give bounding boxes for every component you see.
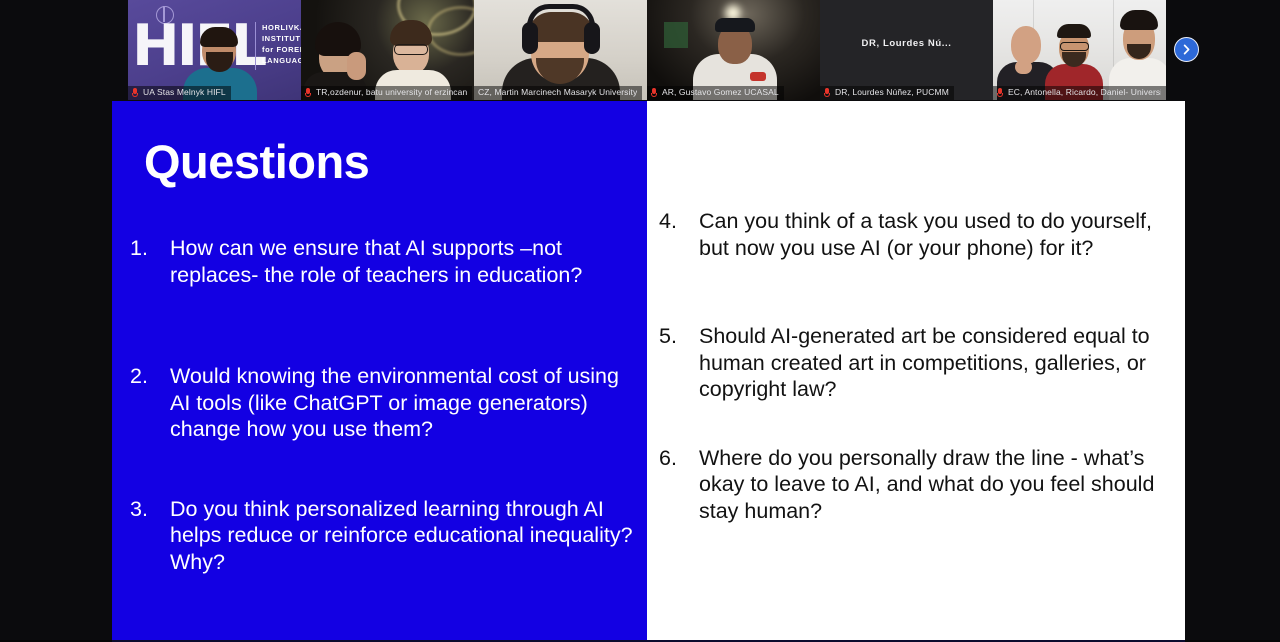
video-conference-screen: HIFL HORLIVKAINSTITUTEfor FOREIGNLANGUAG…	[0, 0, 1280, 642]
wall-poster	[664, 22, 688, 48]
video-tile-3-media	[474, 0, 647, 100]
video-tile-6-name-bar: EC, Antonella, Ricardo, Daniel- Universi…	[993, 86, 1166, 100]
video-tile-5-name-bar: DR, Lourdes Núñez, PUCMM	[820, 86, 954, 100]
participant-6b-glasses	[1060, 42, 1089, 51]
shared-screen-slide[interactable]: Questions 1. How can we ensure that AI s…	[112, 101, 1185, 640]
question-3-number: 3.	[130, 496, 170, 523]
mic-muted-icon	[997, 88, 1004, 98]
question-1-number: 1.	[130, 235, 170, 262]
video-tile-5-name: DR, Lourdes Núñez, PUCMM	[835, 87, 949, 98]
participant-1-hair	[200, 27, 238, 47]
video-tile-5[interactable]: DR, Lourdes Nú... DR, Lourdes Núñez, PUC…	[820, 0, 993, 100]
participant-3-headset-right	[584, 22, 600, 54]
question-6-number: 6.	[659, 445, 699, 472]
question-item-6: 6. Where do you personally draw the line…	[659, 445, 1169, 525]
participant-6a-hand	[1015, 60, 1032, 74]
question-item-4: 4. Can you think of a task you used to d…	[659, 208, 1169, 261]
video-tile-1-media: HIFL HORLIVKAINSTITUTEfor FOREIGNLANGUAG…	[128, 0, 301, 100]
participant-4-logo	[750, 72, 766, 81]
video-tile-5-media: DR, Lourdes Nú...	[820, 0, 993, 100]
question-2-number: 2.	[130, 363, 170, 390]
hifl-wordmark: HORLIVKAINSTITUTEfor FOREIGNLANGUAGES	[262, 22, 301, 66]
slide-title: Questions	[144, 134, 369, 189]
video-tile-1-name: UA Stas Melnyk HIFL	[143, 87, 226, 98]
participant-3-headset-band	[527, 4, 595, 26]
video-tile-2[interactable]: TR,ozdenur, batu university of erzincan	[301, 0, 474, 100]
video-tile-1[interactable]: HIFL HORLIVKAINSTITUTEfor FOREIGNLANGUAG…	[128, 0, 301, 100]
mic-muted-icon	[305, 88, 312, 98]
questions-list-left: 1. How can we ensure that AI supports –n…	[130, 235, 639, 575]
participant-2b-glasses	[394, 44, 428, 55]
participant-6b-hair	[1057, 24, 1091, 38]
participant-4-cap	[715, 18, 755, 32]
question-item-3: 3. Do you think personalized learning th…	[130, 496, 639, 576]
question-6-text: Where do you personally draw the line - …	[699, 445, 1169, 525]
hifl-logo: HIFL	[132, 18, 264, 75]
question-2-text: Would knowing the environmental cost of …	[170, 363, 639, 443]
slide-left-column: Questions 1. How can we ensure that AI s…	[112, 101, 647, 640]
question-item-2: 2. Would knowing the environmental cost …	[130, 363, 639, 443]
participant-6c-hair	[1120, 10, 1158, 30]
participant-filmstrip: HIFL HORLIVKAINSTITUTEfor FOREIGNLANGUAG…	[0, 0, 1280, 100]
video-tile-3[interactable]: CZ, Martin Marcinech Masaryk University	[474, 0, 647, 100]
question-5-number: 5.	[659, 323, 699, 350]
video-tile-4[interactable]: AR, Gustavo Gomez UCASAL	[647, 0, 820, 100]
question-item-1: 1. How can we ensure that AI supports –n…	[130, 235, 639, 288]
video-tile-4-name-bar: AR, Gustavo Gomez UCASAL	[647, 86, 784, 100]
participant-3-headset-left	[522, 22, 538, 54]
question-3-text: Do you think personalized learning throu…	[170, 496, 639, 576]
camera-off-background	[820, 0, 993, 100]
slide-right-column: 4. Can you think of a task you used to d…	[647, 101, 1185, 640]
mic-muted-icon	[651, 88, 658, 98]
video-tile-6-media	[993, 0, 1166, 100]
camera-off-display-name: DR, Lourdes Nú...	[820, 38, 993, 49]
next-page-arrow-button[interactable]	[1174, 37, 1199, 62]
video-tile-1-name-bar: UA Stas Melnyk HIFL	[128, 86, 231, 100]
question-4-text: Can you think of a task you used to do y…	[699, 208, 1169, 261]
video-tile-6[interactable]: EC, Antonella, Ricardo, Daniel- Universi…	[993, 0, 1166, 100]
video-tile-2-name-bar: TR,ozdenur, batu university of erzincan	[301, 86, 472, 100]
mic-muted-icon	[824, 88, 831, 98]
question-item-5: 5. Should AI-generated art be considered…	[659, 323, 1169, 403]
mic-muted-icon	[132, 88, 139, 98]
chevron-right-icon	[1181, 44, 1192, 55]
question-4-number: 4.	[659, 208, 699, 235]
participant-2b-hair	[390, 20, 432, 46]
video-tile-4-media	[647, 0, 820, 100]
video-tile-2-name: TR,ozdenur, batu university of erzincan	[316, 87, 467, 98]
video-tile-2-media	[301, 0, 474, 100]
question-1-text: How can we ensure that AI supports –not …	[170, 235, 639, 288]
video-tile-3-name-bar: CZ, Martin Marcinech Masaryk University	[474, 86, 642, 100]
participant-2a-hand	[347, 52, 366, 80]
participant-6a-head	[1011, 26, 1041, 64]
video-tile-6-name: EC, Antonella, Ricardo, Daniel- Universi…	[1008, 87, 1161, 98]
video-tile-4-name: AR, Gustavo Gomez UCASAL	[662, 87, 779, 98]
video-tile-3-name: CZ, Martin Marcinech Masaryk University	[478, 87, 637, 98]
question-5-text: Should AI-generated art be considered eq…	[699, 323, 1169, 403]
questions-list-right: 4. Can you think of a task you used to d…	[659, 208, 1169, 524]
logo-divider	[255, 22, 256, 70]
